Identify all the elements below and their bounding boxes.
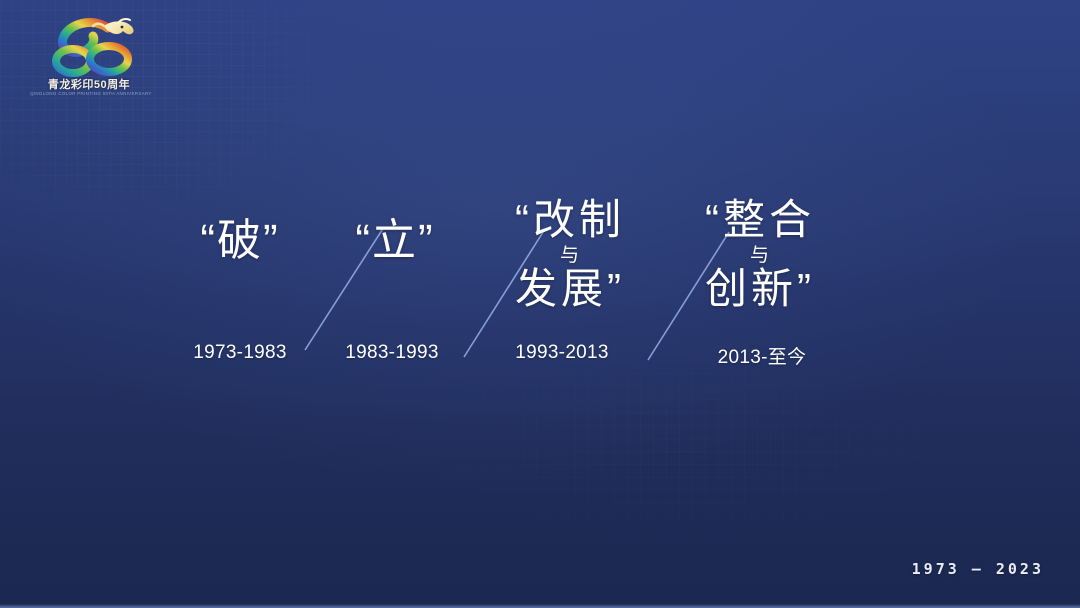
presentation-slide: 青龙彩印50周年 QINGLONG COLOR PRINTING 50TH AN… bbox=[0, 0, 1080, 608]
phase-title-line-1: “改制 bbox=[470, 198, 670, 243]
bottom-edge-highlight bbox=[0, 604, 1080, 608]
phase-title-line-2: 创新” bbox=[660, 267, 860, 312]
phase-title: “破” bbox=[150, 218, 330, 265]
footer-year-range: 1973 — 2023 bbox=[912, 560, 1044, 578]
phase-date-wrap: 1993-2013 bbox=[472, 342, 652, 364]
phase-date: 1973-1983 bbox=[193, 342, 287, 363]
phase-title: “整合 与 创新” bbox=[660, 198, 860, 311]
phase-title: “改制 与 发展” bbox=[470, 198, 670, 311]
timeline-phase-zhenghe-chuangxin[interactable]: “整合 与 创新” bbox=[660, 198, 860, 311]
phase-date: 2013-至今 bbox=[718, 347, 807, 368]
timeline-phase-li[interactable]: “立” bbox=[305, 218, 485, 265]
phase-title-conjunction: 与 bbox=[470, 246, 670, 266]
phase-date: 1983-1993 bbox=[345, 342, 439, 363]
phase-date-wrap: 1983-1993 bbox=[302, 342, 482, 364]
timeline-phase-po[interactable]: “破” bbox=[150, 218, 330, 265]
phase-title-line-2: 发展” bbox=[470, 267, 670, 312]
phase-date: 1993-2013 bbox=[515, 342, 609, 363]
phase-date-wrap: 2013-至今 bbox=[672, 342, 852, 369]
timeline-phase-gaizhi-fazhan[interactable]: “改制 与 发展” bbox=[470, 198, 670, 311]
timeline: “破” 1973-1983 “立” 1983-1993 “改制 与 发展” 19… bbox=[0, 0, 1080, 608]
phase-title-line-1: “整合 bbox=[660, 198, 860, 243]
phase-title: “立” bbox=[305, 218, 485, 265]
phase-title-conjunction: 与 bbox=[660, 246, 860, 266]
